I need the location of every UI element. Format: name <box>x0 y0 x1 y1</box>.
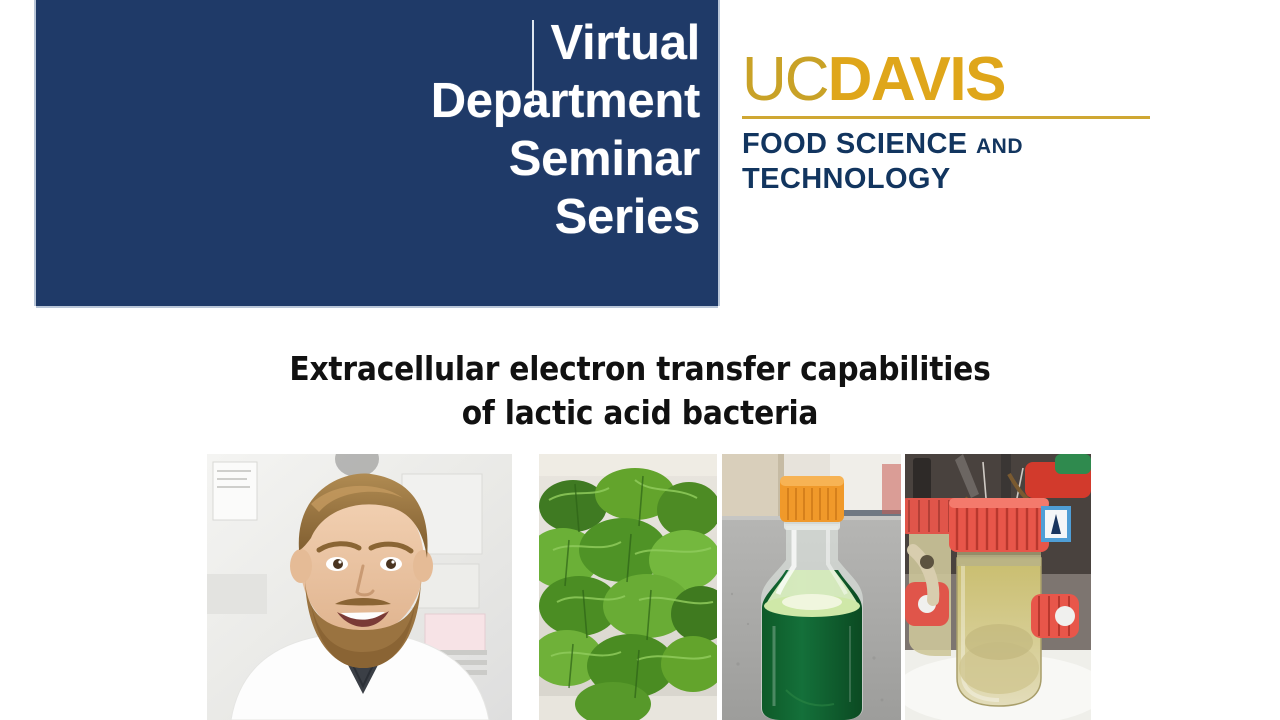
lab-bioreactor-photo <box>905 454 1091 720</box>
banner-line-virtual: Virtual <box>300 14 700 72</box>
seminar-banner-panel: Virtual Department Seminar Series <box>36 0 718 306</box>
logo-department-line-1: FOOD SCIENCE AND <box>742 128 1172 163</box>
logo-department-line-2: TECHNOLOGY <box>742 163 1172 196</box>
logo-food-science-text: FOOD SCIENCE <box>742 128 968 160</box>
logo-and-text: AND <box>976 135 1023 158</box>
logo-divider-rule <box>742 116 1150 119</box>
green-juice-bottle-photo <box>722 454 901 720</box>
banner-title-block: Virtual Department Seminar Series <box>300 14 700 246</box>
ucdavis-logo: UCDAVIS FOOD SCIENCE AND TECHNOLOGY <box>742 48 1172 196</box>
logo-uc-text: UC <box>742 45 828 114</box>
speaker-portrait-photo <box>207 454 512 720</box>
banner-line-series: Series <box>300 188 700 246</box>
banner-line-seminar: Seminar <box>300 130 700 188</box>
seminar-title-line-1: Extracellular electron transfer capabili… <box>0 347 1280 391</box>
leafy-greens-photo <box>539 454 717 720</box>
seminar-title: Extracellular electron transfer capabili… <box>0 347 1280 435</box>
logo-davis-text: DAVIS <box>828 45 1005 114</box>
photo-strip <box>207 454 1091 720</box>
banner-line-department: Department <box>300 72 700 130</box>
ucdavis-wordmark: UCDAVIS <box>742 48 1172 114</box>
seminar-title-line-2: of lactic acid bacteria <box>0 391 1280 435</box>
logo-department-name: FOOD SCIENCE AND TECHNOLOGY <box>742 128 1172 196</box>
